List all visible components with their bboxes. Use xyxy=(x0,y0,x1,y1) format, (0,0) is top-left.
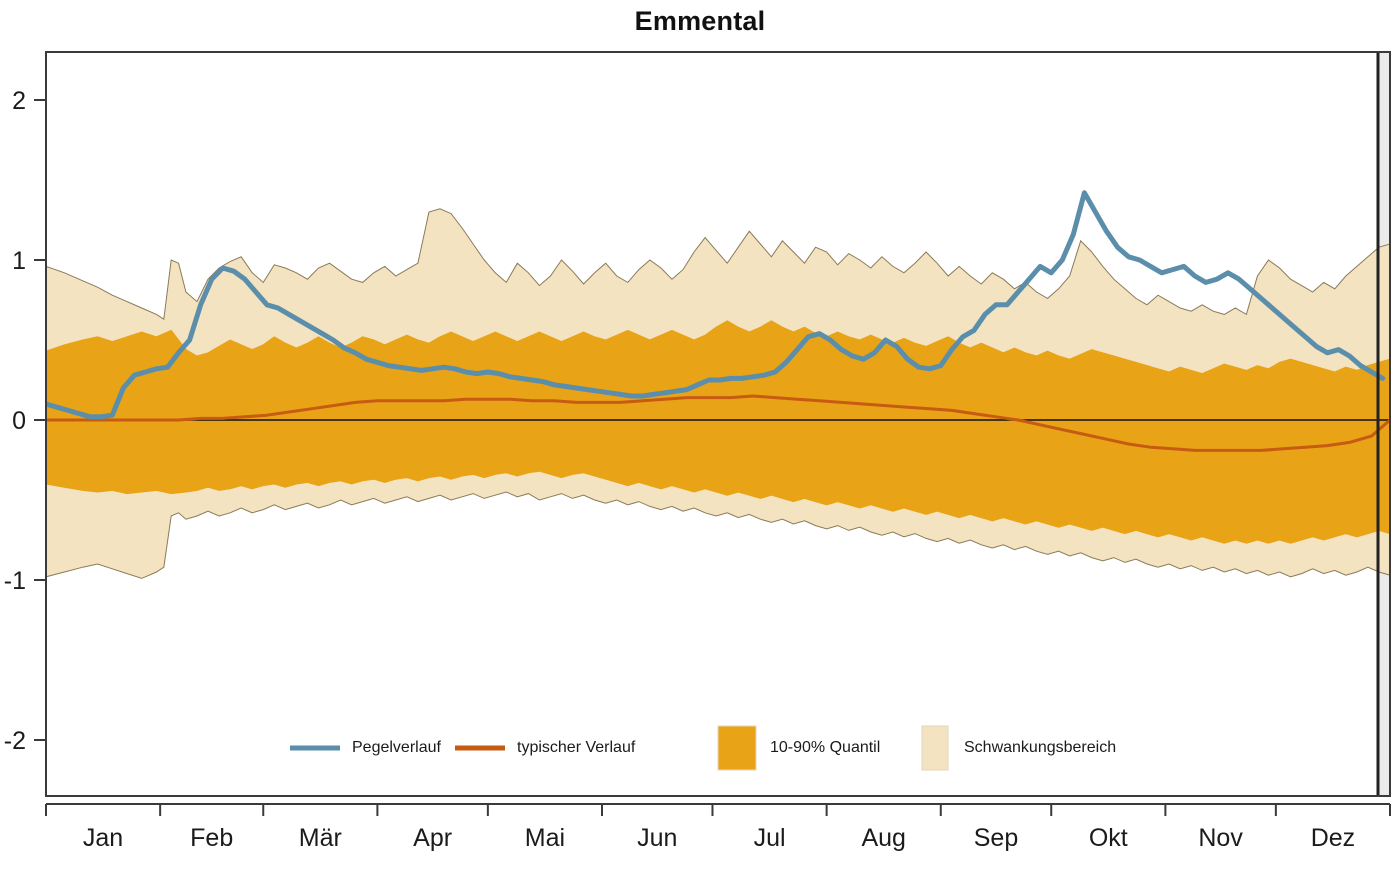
y-tick-label: 2 xyxy=(12,87,26,115)
x-tick-label: Aug xyxy=(861,824,905,852)
x-tick-label: Feb xyxy=(190,824,233,852)
x-tick-label: Jan xyxy=(83,824,123,852)
y-tick-label: 0 xyxy=(12,407,26,435)
x-tick-label: Dez xyxy=(1311,824,1355,852)
y-axis: 210-1-2 xyxy=(4,87,46,755)
x-tick-label: Nov xyxy=(1198,824,1243,852)
legend-label: 10-90% Quantil xyxy=(770,739,880,756)
x-tick-label: Jul xyxy=(754,824,786,852)
y-tick-label: -2 xyxy=(4,727,26,755)
x-tick-label: Mai xyxy=(525,824,565,852)
x-tick-label: Okt xyxy=(1089,824,1128,852)
legend-label: typischer Verlauf xyxy=(517,739,636,756)
y-tick-label: -1 xyxy=(4,567,26,595)
x-tick-label: Sep xyxy=(974,824,1018,852)
legend-label: Pegelverlauf xyxy=(352,739,442,756)
x-tick-label: Apr xyxy=(413,824,452,852)
x-axis: JanFebMärAprMaiJunJulAugSepOktNovDez xyxy=(46,804,1390,852)
chart-legend: Pegelverlauftypischer Verlauf10-90% Quan… xyxy=(290,726,1116,770)
y-tick-label: 1 xyxy=(12,247,26,275)
legend-marker-swatch xyxy=(922,726,948,770)
legend-marker-swatch xyxy=(718,726,756,770)
band-areas xyxy=(46,209,1390,579)
x-tick-label: Mär xyxy=(299,824,342,852)
chart-container: Emmental 210-1-2 JanFebMärAprMaiJunJulAu… xyxy=(0,0,1400,876)
hydrograph-plot: 210-1-2 JanFebMärAprMaiJunJulAugSepOktNo… xyxy=(0,0,1400,876)
legend-label: Schwankungsbereich xyxy=(964,739,1116,756)
x-tick-label: Jun xyxy=(637,824,677,852)
